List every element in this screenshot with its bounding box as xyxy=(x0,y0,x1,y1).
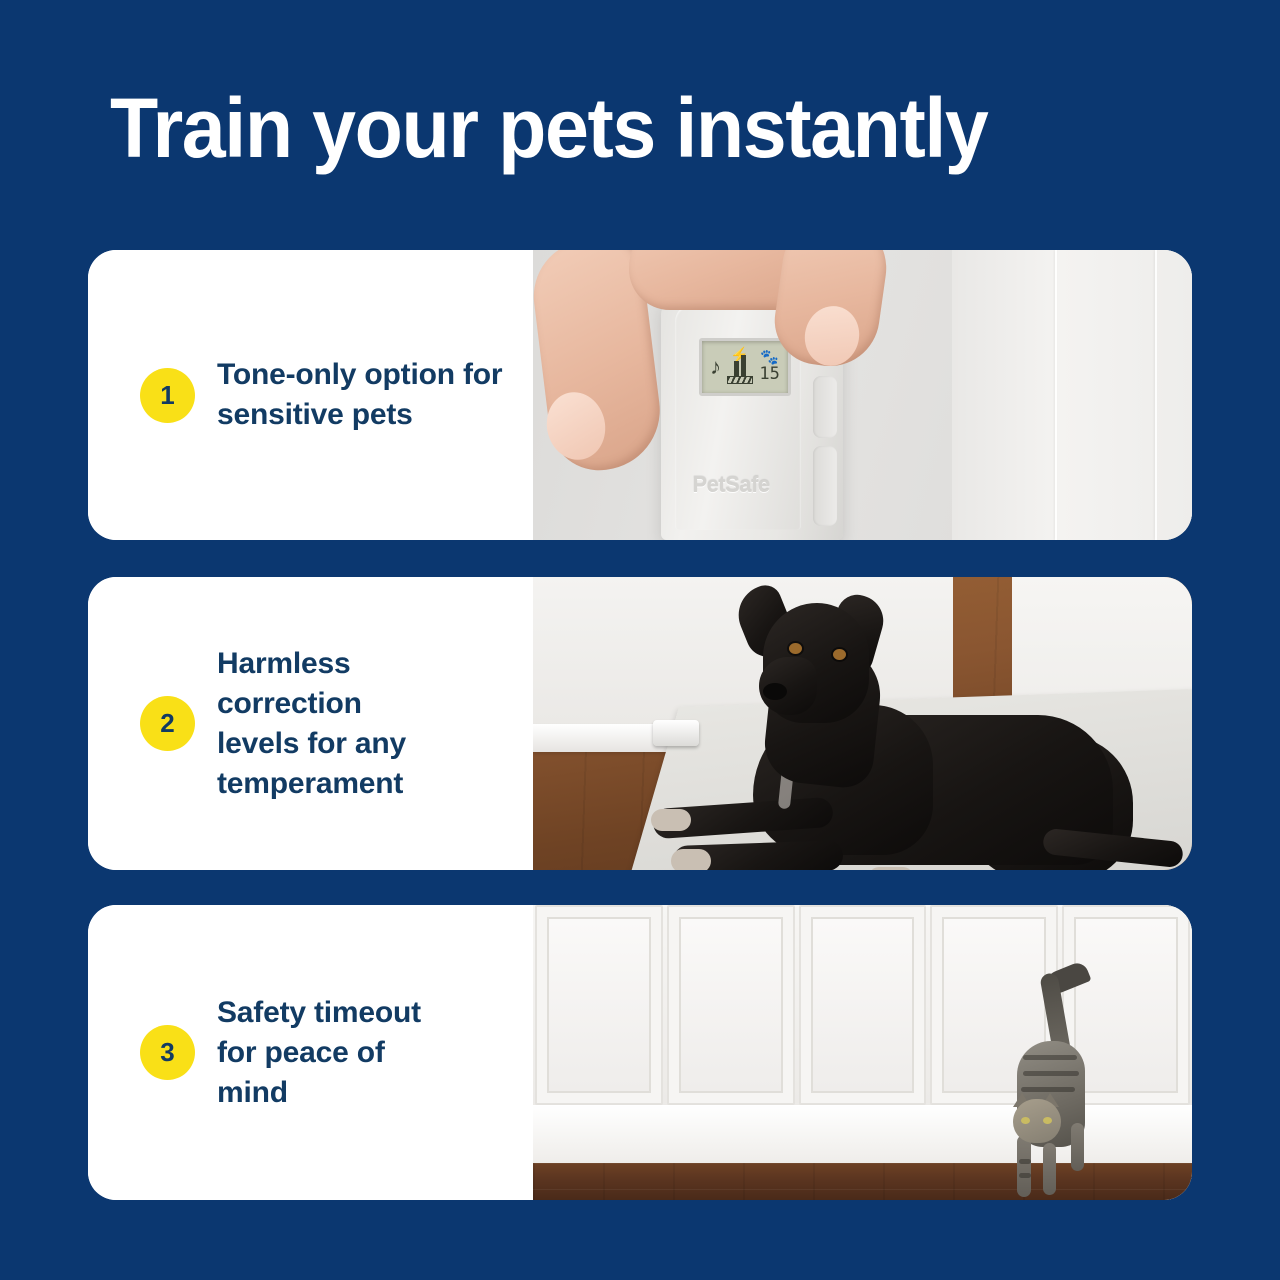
remote-side-button-upper xyxy=(813,376,837,438)
dog-nose xyxy=(763,683,787,700)
feature-card-3-text-block: 3 Safety timeout for peace of mind xyxy=(88,905,533,1200)
feature-label-3: Safety timeout for peace of mind xyxy=(217,993,452,1113)
feature-label-2: Harmless correction levels for any tempe… xyxy=(217,644,452,804)
step-badge-3: 3 xyxy=(140,1025,195,1080)
feature-card-1-text-block: 1 Tone-only option for sensitive pets xyxy=(88,250,533,540)
feature-photo-dog xyxy=(533,577,1192,870)
wall-seam-2 xyxy=(1155,250,1157,540)
dog-eye-right xyxy=(833,649,846,660)
cabinet-door-3 xyxy=(799,905,927,1105)
cat-leg-rear xyxy=(1071,1123,1084,1171)
remote-side-button-lower xyxy=(813,446,837,526)
feature-label-1: Tone-only option for sensitive pets xyxy=(217,355,517,435)
cat-leg-front-1 xyxy=(1017,1135,1031,1197)
tabby-cat xyxy=(995,973,1105,1200)
cat-stripe-3 xyxy=(1021,1087,1075,1092)
petsafe-brand-logo: PetSafe xyxy=(661,472,801,498)
feature-card-1: 1 Tone-only option for sensitive pets ♪ … xyxy=(88,250,1192,540)
step-badge-1: 1 xyxy=(140,368,195,423)
paw-level-group: 🐾 15 xyxy=(759,350,779,384)
cat-eye-right xyxy=(1043,1117,1052,1124)
wall-seam-1 xyxy=(1055,250,1057,540)
lcd-level-value: 15 xyxy=(759,365,779,384)
remote-lcd-screen: ♪ ⚡ 🐾 15 xyxy=(699,338,791,396)
dog-paw-2 xyxy=(671,849,711,870)
dog-eye-left xyxy=(789,643,802,654)
feature-photo-remote: ♪ ⚡ 🐾 15 PetSafe xyxy=(533,250,1192,540)
cat-leg-front-2 xyxy=(1043,1143,1056,1195)
feature-photo-cat xyxy=(533,905,1192,1200)
paw-print-icon: 🐾 xyxy=(760,350,779,365)
dog-paw-1 xyxy=(651,809,691,831)
feature-card-2: 2 Harmless correction levels for any tem… xyxy=(88,577,1192,870)
feature-card-2-text-block: 2 Harmless correction levels for any tem… xyxy=(88,577,533,870)
cat-eye-left xyxy=(1021,1117,1030,1124)
page-title: Train your pets instantly xyxy=(110,82,1135,174)
lcd-hatch-bar xyxy=(727,376,753,384)
cat-leg-stripe-1 xyxy=(1019,1159,1031,1164)
cat-leg-stripe-2 xyxy=(1019,1173,1031,1178)
cabinet-door-1 xyxy=(535,905,663,1105)
step-badge-2: 2 xyxy=(140,696,195,751)
dog-paw-3 xyxy=(869,867,913,870)
cabinet-door-2 xyxy=(667,905,795,1105)
black-dog xyxy=(663,585,1183,870)
cat-stripe-2 xyxy=(1023,1071,1079,1076)
music-note-icon: ♪ xyxy=(710,356,721,378)
lightning-bars-icon: ⚡ xyxy=(727,350,753,384)
feature-card-3: 3 Safety timeout for peace of mind xyxy=(88,905,1192,1200)
cat-stripe-1 xyxy=(1023,1055,1077,1060)
